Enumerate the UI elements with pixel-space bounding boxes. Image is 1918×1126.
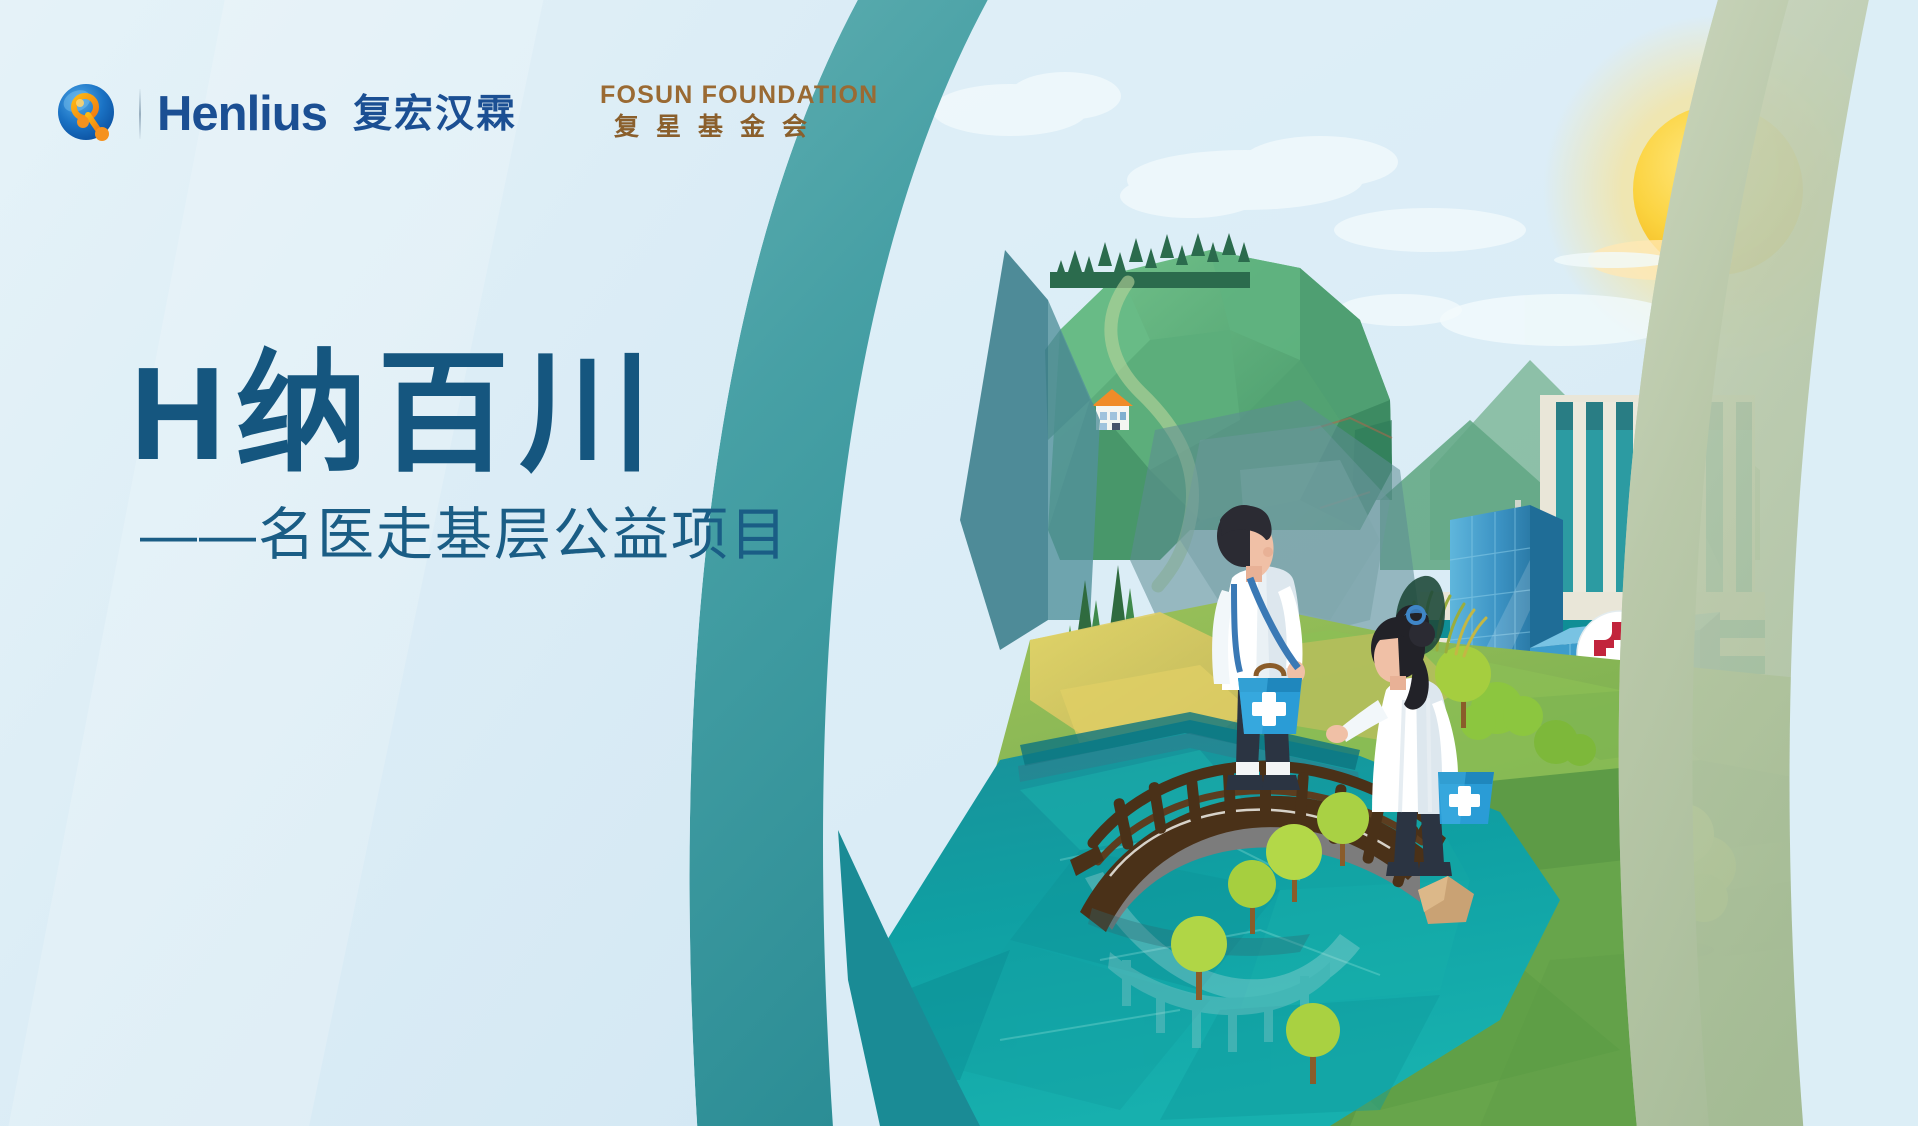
fosun-name-en: FOSUN FOUNDATION [600,82,830,108]
page-subtitle: ——名医走基层公益项目 [140,500,789,571]
henlius-wordmark-cn: 复宏汉霖 [353,95,517,134]
hand [1326,725,1348,743]
logo-divider [139,89,141,139]
medical-bag-icon [1438,772,1494,824]
henlius-wordmark: Henlius [157,90,327,139]
page-title: H纳百川 [130,340,789,488]
hero-text-block: H纳百川 ——名医走基层公益项目 [130,340,789,571]
fosun-foundation-logo: FOSUN FOUNDATION 复星基金会 [600,82,830,144]
brand-logo-row: Henlius 复宏汉霖 [55,78,517,150]
henlius-molecule-icon [55,81,121,147]
poster-root: HOSPITAL [0,0,1918,1126]
fosun-name-cn: 复星基金会 [608,112,830,143]
